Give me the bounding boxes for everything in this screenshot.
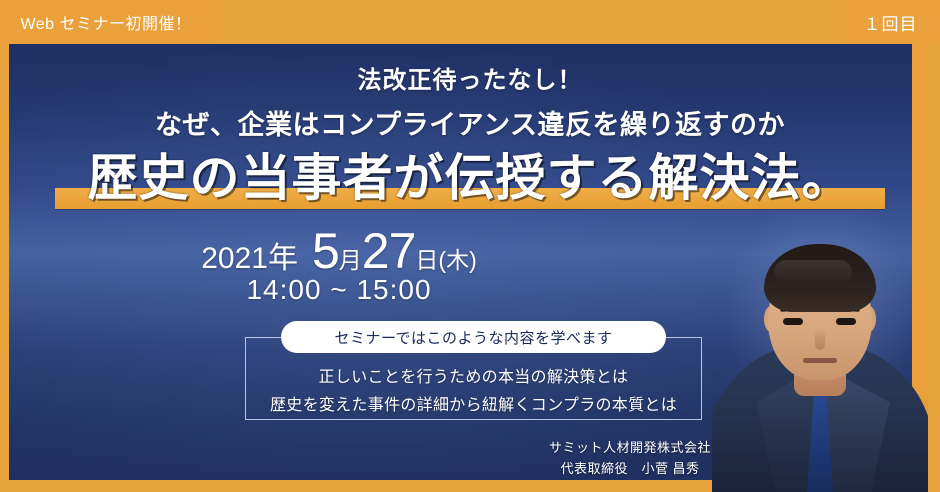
portrait-mouth — [803, 358, 837, 363]
badge-web-seminar: Web セミナー初開催！ — [0, 0, 212, 44]
badge-session-number: １回目 — [841, 0, 940, 44]
event-date: 2021年5月27日(木) — [0, 222, 678, 280]
date-weekday: (木) — [438, 247, 476, 273]
portrait-eye-right — [836, 318, 856, 325]
badge-right-label: １回目 — [864, 10, 918, 35]
date-month-number: 5 — [312, 223, 339, 279]
content-bullet-2: 歴史を変えた事件の詳細から紐解くコンプラの本質とは — [245, 391, 702, 415]
date-year: 2021年 — [201, 242, 298, 275]
subtitle-line-2: なぜ、企業はコンプライアンス違反を繰り返すのか — [0, 103, 940, 142]
content-bullet-1: 正しいことを行うための本当の解決策とは — [245, 363, 702, 387]
page-title: 歴史の当事者が伝授する解決法。 — [0, 138, 940, 210]
badge-left-label: Web セミナー初開催！ — [20, 10, 191, 34]
date-day-number: 27 — [362, 223, 416, 279]
subtitle-line-1: 法改正待ったなし！ — [0, 60, 940, 95]
portrait-nose — [815, 328, 825, 350]
content-pill-heading: セミナーではこのような内容を学べます — [281, 321, 666, 353]
date-month-unit: 月 — [339, 247, 362, 273]
seminar-banner: Web セミナー初開催！ １回目 法改正待ったなし！ なぜ、企業はコンプライアン… — [0, 0, 940, 492]
portrait-eye-left — [783, 318, 803, 325]
content-pill-label: セミナーではこのような内容を学べます — [334, 327, 612, 348]
speaker-portrait — [712, 210, 928, 492]
event-time: 14:00 ~ 15:00 — [0, 274, 678, 306]
portrait-shadow — [712, 392, 928, 492]
date-day-unit: 日 — [415, 247, 438, 273]
